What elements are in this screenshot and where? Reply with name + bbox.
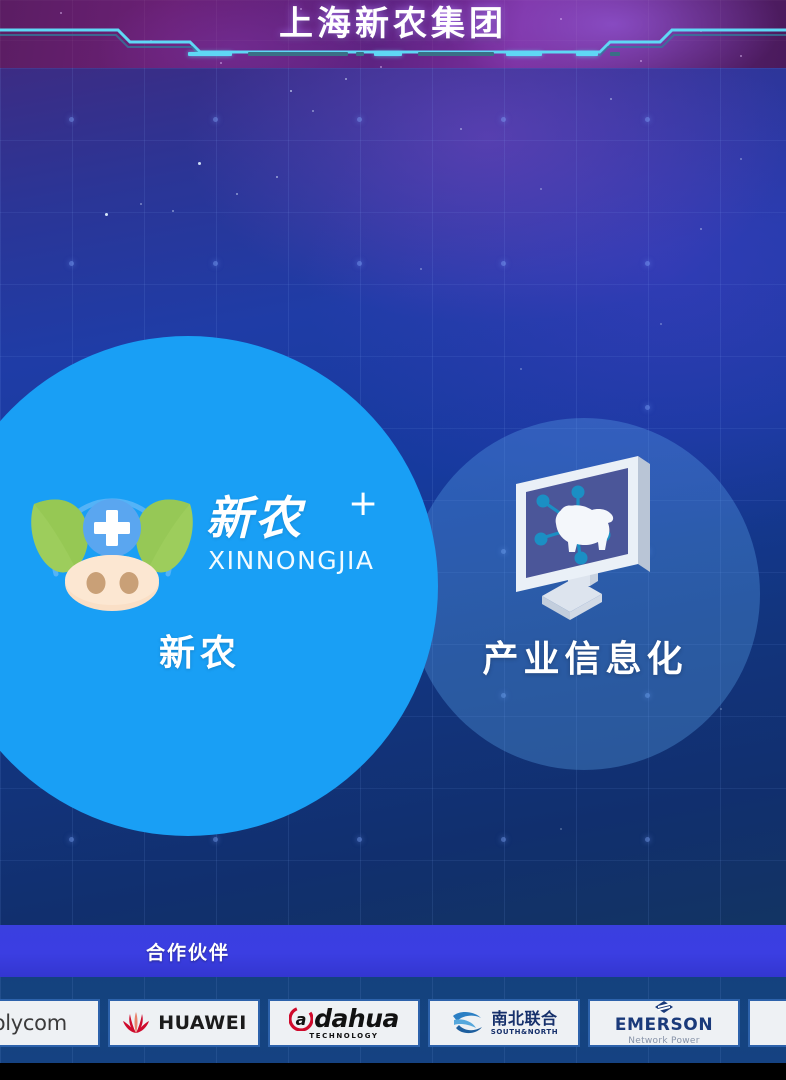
- wordmark-chinese: 新农: [206, 482, 304, 548]
- header-deco-ticks: [0, 52, 786, 58]
- partners-logo-strip[interactable]: Polycom HUAWEI: [0, 977, 786, 1063]
- brand-wordmark: 新农 + XINNONGJIA: [206, 480, 406, 592]
- partners-title: 合作伙伴: [146, 938, 230, 965]
- emerson-tagline: Network Power: [628, 1037, 700, 1046]
- partner-logo-south-north[interactable]: 南北联合 SOUTH&NORTH: [428, 999, 580, 1047]
- right-panel-label: 产业信息化: [410, 630, 760, 682]
- app-header: 上海新农集团: [0, 0, 786, 70]
- wordmark-pinyin: XINNONGJIA: [208, 546, 375, 575]
- dahua-tagline: TECHNOLOGY: [309, 1033, 378, 1040]
- main-stage: 新农 + XINNONGJIA 新农: [0, 68, 786, 925]
- dahua-a-icon: a: [289, 1007, 313, 1031]
- partner-logo-globe[interactable]: [748, 999, 786, 1047]
- southnorth-swoosh-icon: [450, 1008, 484, 1038]
- partner-logo-row: Polycom HUAWEI: [0, 999, 786, 1047]
- monitor-pig-network-icon: [498, 446, 680, 628]
- emerson-wordmark: EMERSON: [615, 1017, 713, 1034]
- left-panel-label: 新农: [0, 624, 400, 676]
- svg-text:a: a: [296, 1010, 307, 1029]
- southnorth-wordmark-en: SOUTH&NORTH: [491, 1029, 559, 1036]
- wordmark-plus-icon: +: [348, 486, 378, 522]
- header-deco-line: [0, 22, 786, 56]
- polycom-wordmark: Polycom: [0, 1011, 67, 1035]
- dahua-wordmark: dahua: [314, 1006, 399, 1031]
- partner-logo-dahua[interactable]: a dahua TECHNOLOGY: [268, 999, 420, 1047]
- partner-logo-emerson[interactable]: EMERSON Network Power: [588, 999, 740, 1047]
- southnorth-wordmark-cn: 南北联合: [491, 1011, 557, 1027]
- huawei-flower-icon: [121, 1009, 151, 1037]
- partner-logo-huawei[interactable]: HUAWEI: [108, 999, 260, 1047]
- pig-plus-leaf-logo: [14, 466, 210, 616]
- partners-title-bar: 合作伙伴: [0, 925, 786, 977]
- screen: 上海新农集团: [0, 0, 786, 1080]
- bottom-letterbox: [0, 1063, 786, 1080]
- huawei-wordmark: HUAWEI: [158, 1012, 247, 1034]
- partner-logo-polycom[interactable]: Polycom: [0, 999, 100, 1047]
